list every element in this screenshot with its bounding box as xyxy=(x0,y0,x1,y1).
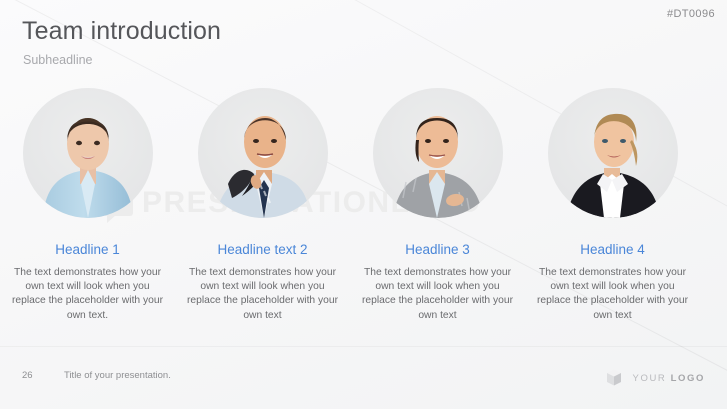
cube-icon xyxy=(603,367,625,389)
woman-black-blazer-photo xyxy=(548,88,678,218)
logo-text-bold: LOGO xyxy=(671,373,705,384)
column-headline: Headline 1 xyxy=(55,242,120,257)
page-subtitle: Subheadline xyxy=(23,53,93,67)
woman-light-blue-shirt-photo xyxy=(23,88,153,218)
logo[interactable]: YOUR LOGO xyxy=(603,367,705,389)
logo-text: YOUR LOGO xyxy=(633,373,705,384)
column-headline: Headline 3 xyxy=(405,242,470,257)
column-headline: Headline text 2 xyxy=(217,242,307,257)
woman-gray-blazer-photo xyxy=(373,88,503,218)
footer-divider xyxy=(0,346,727,347)
avatar[interactable] xyxy=(548,88,678,218)
footer-title: Title of your presentation. xyxy=(64,370,171,381)
column-body-text: The text demonstrates how your own text … xyxy=(534,266,692,323)
slide: #DT0096 Team introduction Subheadline PR… xyxy=(0,0,727,409)
column-body-text: The text demonstrates how your own text … xyxy=(9,266,167,323)
logo-text-light: YOUR xyxy=(633,373,671,384)
column-headline: Headline 4 xyxy=(580,242,645,257)
avatar[interactable] xyxy=(198,88,328,218)
avatar[interactable] xyxy=(373,88,503,218)
avatar[interactable] xyxy=(23,88,153,218)
page-number: 26 xyxy=(22,370,33,381)
team-member-column-4[interactable]: Headline 4 The text demonstrates how you… xyxy=(525,88,700,323)
team-member-column-3[interactable]: Headline 3 The text demonstrates how you… xyxy=(350,88,525,323)
page-title: Team introduction xyxy=(22,17,221,46)
team-member-column-2[interactable]: Headline text 2 The text demonstrates ho… xyxy=(175,88,350,323)
team-member-column-1[interactable]: Headline 1 The text demonstrates how you… xyxy=(0,88,175,323)
column-body-text: The text demonstrates how your own text … xyxy=(359,266,517,323)
man-jacket-over-shoulder-photo xyxy=(198,88,328,218)
column-body-text: The text demonstrates how your own text … xyxy=(184,266,342,323)
team-columns: Headline 1 The text demonstrates how you… xyxy=(0,88,727,323)
document-code: #DT0096 xyxy=(667,8,715,20)
